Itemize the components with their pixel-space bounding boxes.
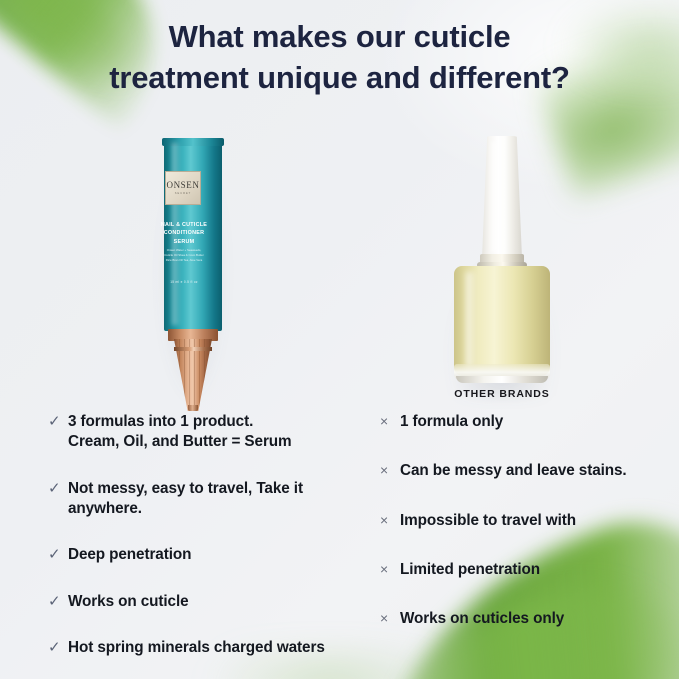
tube-tip [188, 405, 198, 411]
cross-icon: × [380, 609, 400, 628]
other-brand-bottle: OTHER BRANDS [440, 136, 564, 398]
cross-icon: × [380, 461, 400, 480]
bottle-body-highlight [466, 272, 477, 368]
list-item: ✓ Not messy, easy to travel, Take itanyw… [48, 479, 358, 520]
onsen-serum-tube: ONSEN SECRET NAIL & CUTICLE CONDITIONER … [150, 133, 236, 411]
cons-item-text: Can be messy and leave stains. [400, 461, 627, 481]
cross-icon: × [380, 560, 400, 579]
list-item: × Works on cuticles only [380, 609, 660, 629]
tube-cap-ring [174, 347, 212, 351]
check-icon: ✓ [48, 592, 68, 612]
cons-item-text: Impossible to travel with [400, 511, 576, 531]
tube-name-line-3: SERUM [160, 238, 208, 246]
page-title-line-2: treatment unique and different? [60, 57, 619, 98]
check-icon: ✓ [48, 638, 68, 658]
cons-item-text: Works on cuticles only [400, 609, 564, 629]
check-icon: ✓ [48, 479, 68, 499]
pros-item-text: Not messy, easy to travel, Take itanywhe… [68, 479, 303, 520]
list-item: ✓ Deep penetration [48, 545, 358, 565]
cons-list: × 1 formula only × Can be messy and leav… [380, 412, 660, 659]
other-brands-caption: OTHER BRANDS [440, 388, 564, 400]
page-title-line-1: What makes our cuticle [169, 19, 511, 54]
list-item: ✓ Hot spring minerals charged waters [48, 638, 358, 658]
list-item: ✓ 3 formulas into 1 product.Cream, Oil, … [48, 412, 358, 453]
tube-product-name: NAIL & CUTICLE CONDITIONER SERUM [160, 221, 208, 246]
list-item: ✓ Works on cuticle [48, 592, 358, 612]
list-item: × Impossible to travel with [380, 511, 660, 531]
list-item: × Limited penetration [380, 560, 660, 580]
list-item: × 1 formula only [380, 412, 660, 432]
tube-volume-text: 15 ml e 0.5 fl oz [162, 280, 206, 284]
bottle-cap-highlight [492, 142, 499, 252]
check-icon: ✓ [48, 412, 68, 432]
comparison-lists: ✓ 3 formulas into 1 product.Cream, Oil, … [0, 412, 679, 679]
pros-item-text: Deep penetration [68, 545, 191, 565]
page-title: What makes our cuticle treatment unique … [0, 16, 679, 98]
cons-item-text: 1 formula only [400, 412, 503, 432]
cons-item-text: Limited penetration [400, 560, 540, 580]
cross-icon: × [380, 511, 400, 530]
bottle-base-edge [456, 376, 548, 383]
pros-item-text: Hot spring minerals charged waters [68, 638, 325, 658]
bottle-cap [482, 136, 522, 258]
cross-icon: × [380, 412, 400, 431]
pros-list: ✓ 3 formulas into 1 product.Cream, Oil, … [48, 412, 358, 679]
infographic-canvas: What makes our cuticle treatment unique … [0, 0, 679, 679]
pros-item-text: Works on cuticle [68, 592, 189, 612]
list-item: × Can be messy and leave stains. [380, 461, 660, 481]
product-comparison-images: ONSEN SECRET NAIL & CUTICLE CONDITIONER … [0, 128, 679, 408]
tube-ingredients-text: Onsen Water + Seaweeds, Cuticle Oil Shea… [162, 248, 206, 263]
tube-name-line-2: CONDITIONER [160, 229, 208, 237]
brand-name: ONSEN [166, 181, 199, 190]
pros-item-text: 3 formulas into 1 product.Cream, Oil, an… [68, 412, 292, 453]
check-icon: ✓ [48, 545, 68, 565]
brand-subtitle: SECRET [175, 192, 192, 195]
tube-name-line-1: NAIL & CUTICLE [160, 221, 208, 229]
tube-brand-label: ONSEN SECRET [165, 171, 201, 205]
